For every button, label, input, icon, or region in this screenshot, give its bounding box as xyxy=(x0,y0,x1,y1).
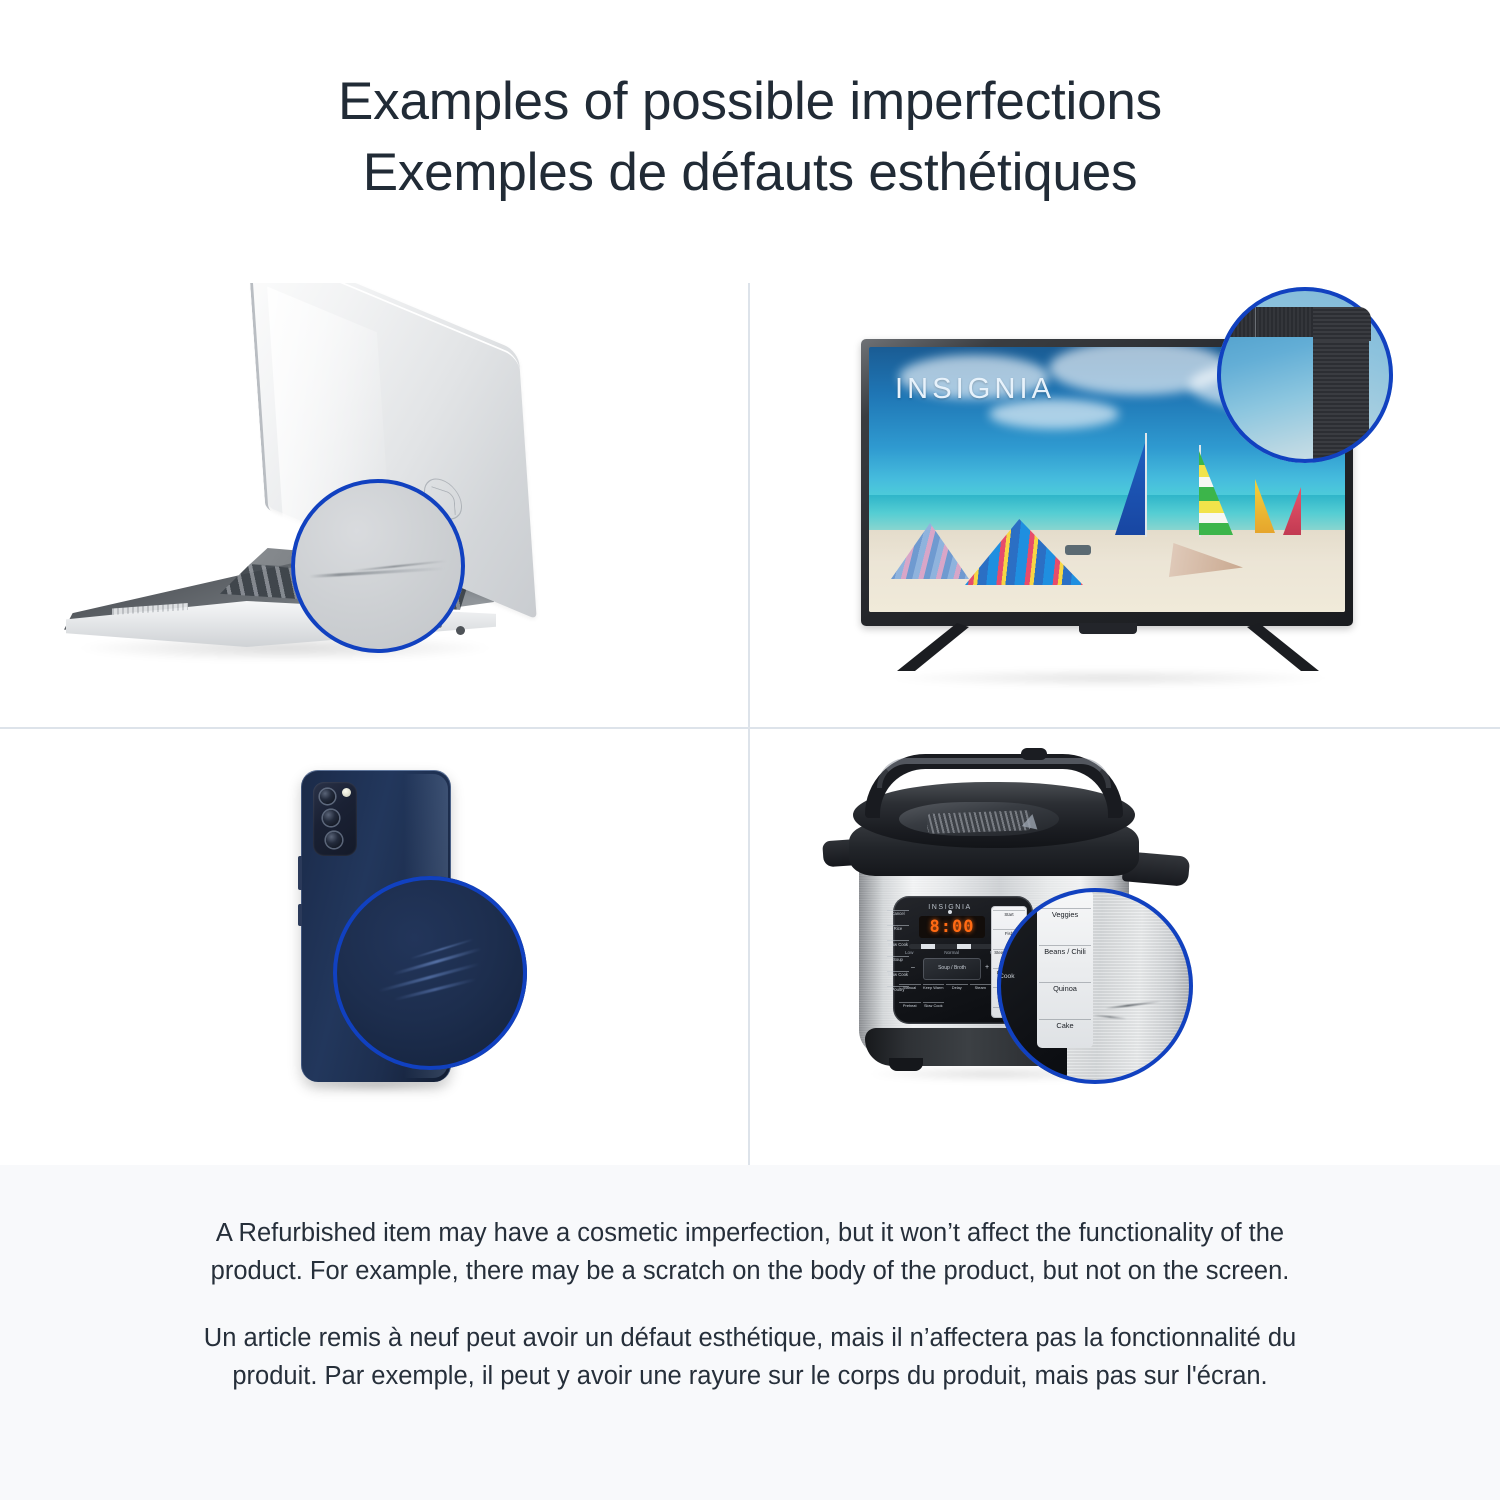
television-leg-right xyxy=(1243,621,1321,675)
magnified-button-strip: Veggies Beans / Chili Quinoa Cake xyxy=(1037,890,1093,1048)
power-button xyxy=(298,904,302,926)
cooker-pressure-slider[interactable] xyxy=(909,944,995,949)
cooker-lid-handle-highlight xyxy=(877,758,1111,788)
cooker-button[interactable]: Manual xyxy=(899,984,921,1000)
header: Examples of possible imperfections Exemp… xyxy=(0,0,1500,285)
minus-icon[interactable]: – xyxy=(911,964,915,971)
example-cell-television: INSIGNIA xyxy=(749,283,1500,727)
cooker-left-button-column: Cancel Rice Slow Cook Soup Slow Cook Pou… xyxy=(887,910,909,993)
sea xyxy=(869,495,1345,532)
sail-blue xyxy=(1115,443,1145,535)
distant-boat xyxy=(1065,545,1091,555)
magnified-side-labels: Delay Slow Cook xyxy=(997,944,1027,980)
television-illustration: INSIGNIA xyxy=(749,283,1500,727)
cooker-button[interactable]: Keep Warm xyxy=(923,984,945,1000)
pressure-cooker-illustration: INSIGNIA 8:00 Low Normal Many Soup / Bro… xyxy=(749,728,1500,1165)
example-cell-pressure-cooker: INSIGNIA 8:00 Low Normal Many Soup / Bro… xyxy=(749,728,1500,1165)
cooker-display: 8:00 xyxy=(919,916,985,938)
disclaimer-paragraph-fr: Un article remis à neuf peut avoir un dé… xyxy=(185,1320,1315,1395)
cooker-pressure-valve xyxy=(1021,748,1047,760)
magnified-screen-area xyxy=(1217,329,1327,463)
phone-scuff xyxy=(410,938,474,960)
disclaimer-paragraph-en: A Refurbished item may have a cosmetic i… xyxy=(185,1215,1315,1290)
camera-flash-icon xyxy=(342,788,351,797)
example-cell-smartphone xyxy=(0,728,748,1165)
cooker-display-value: 8:00 xyxy=(930,917,975,937)
cooker-button[interactable]: Slow Cook xyxy=(923,1002,945,1018)
cooker-button[interactable]: Delay xyxy=(946,984,968,1000)
slider-label-normal: Normal xyxy=(944,950,959,955)
refurbished-imperfections-infographic: Examples of possible imperfections Exemp… xyxy=(0,0,1500,1500)
footer-disclaimer: A Refurbished item may have a cosmetic i… xyxy=(0,1165,1500,1500)
magnified-side-label: Slow Cook xyxy=(997,973,1027,980)
magnifier-pressure-cooker: Veggies Beans / Chili Quinoa Cake Delay … xyxy=(997,888,1193,1084)
page-title-fr: Exemples de défauts esthétiques xyxy=(363,137,1138,208)
cooker-slider-labels: Low Normal Many xyxy=(905,950,1001,955)
magnifier-laptop xyxy=(291,479,465,653)
magnified-cooker-button: Cake xyxy=(1039,1019,1091,1030)
magnified-cooker-button: Quinoa xyxy=(1039,982,1091,993)
television-bezel-corner-overflow xyxy=(1313,307,1371,341)
magnifier-smartphone xyxy=(333,876,527,1070)
camera-module xyxy=(313,782,357,856)
cooker-mid-button-grid: Manual Keep Warm Delay Steam Preheat Slo… xyxy=(899,984,991,1018)
example-cell-laptop xyxy=(0,283,748,727)
magnified-cooker-button: Veggies xyxy=(1039,908,1091,919)
phone-scuff xyxy=(378,963,479,993)
plus-icon[interactable]: + xyxy=(985,964,989,971)
cooker-button[interactable]: Rice xyxy=(887,925,909,932)
camera-lens xyxy=(326,832,342,848)
cooker-mode-button[interactable]: Soup / Broth xyxy=(923,958,981,980)
cooker-status-led xyxy=(948,910,952,914)
smartphone-illustration xyxy=(0,728,748,1165)
television-logo-bar xyxy=(1079,623,1137,634)
laptop-audio-jack xyxy=(456,626,465,635)
cooker-button[interactable]: Cancel xyxy=(887,910,909,917)
mast xyxy=(1145,433,1147,537)
examples-grid: INSIGNIA xyxy=(0,283,1500,1165)
camera-lens xyxy=(323,810,339,826)
volume-button xyxy=(298,856,302,890)
magnified-side-label: Delay xyxy=(997,944,1027,951)
page-title-en: Examples of possible imperfections xyxy=(338,66,1162,137)
camera-lens xyxy=(320,789,335,804)
cooker-button[interactable]: Slow Cook xyxy=(887,971,909,978)
cooker-button[interactable]: Slow Cook xyxy=(887,940,909,947)
phone-scuff xyxy=(392,947,481,975)
cooker-button[interactable]: Soup xyxy=(887,956,909,963)
magnified-bezel-seam xyxy=(1255,307,1256,337)
laptop-illustration xyxy=(0,283,748,727)
magnified-cooker-button: Beans / Chili xyxy=(1039,945,1091,956)
cooker-button[interactable]: Preheat xyxy=(899,1002,921,1018)
cooker-button[interactable]: Steam xyxy=(970,984,992,1000)
television-leg-left xyxy=(895,621,973,675)
television-screen-brand: INSIGNIA xyxy=(895,373,1055,406)
